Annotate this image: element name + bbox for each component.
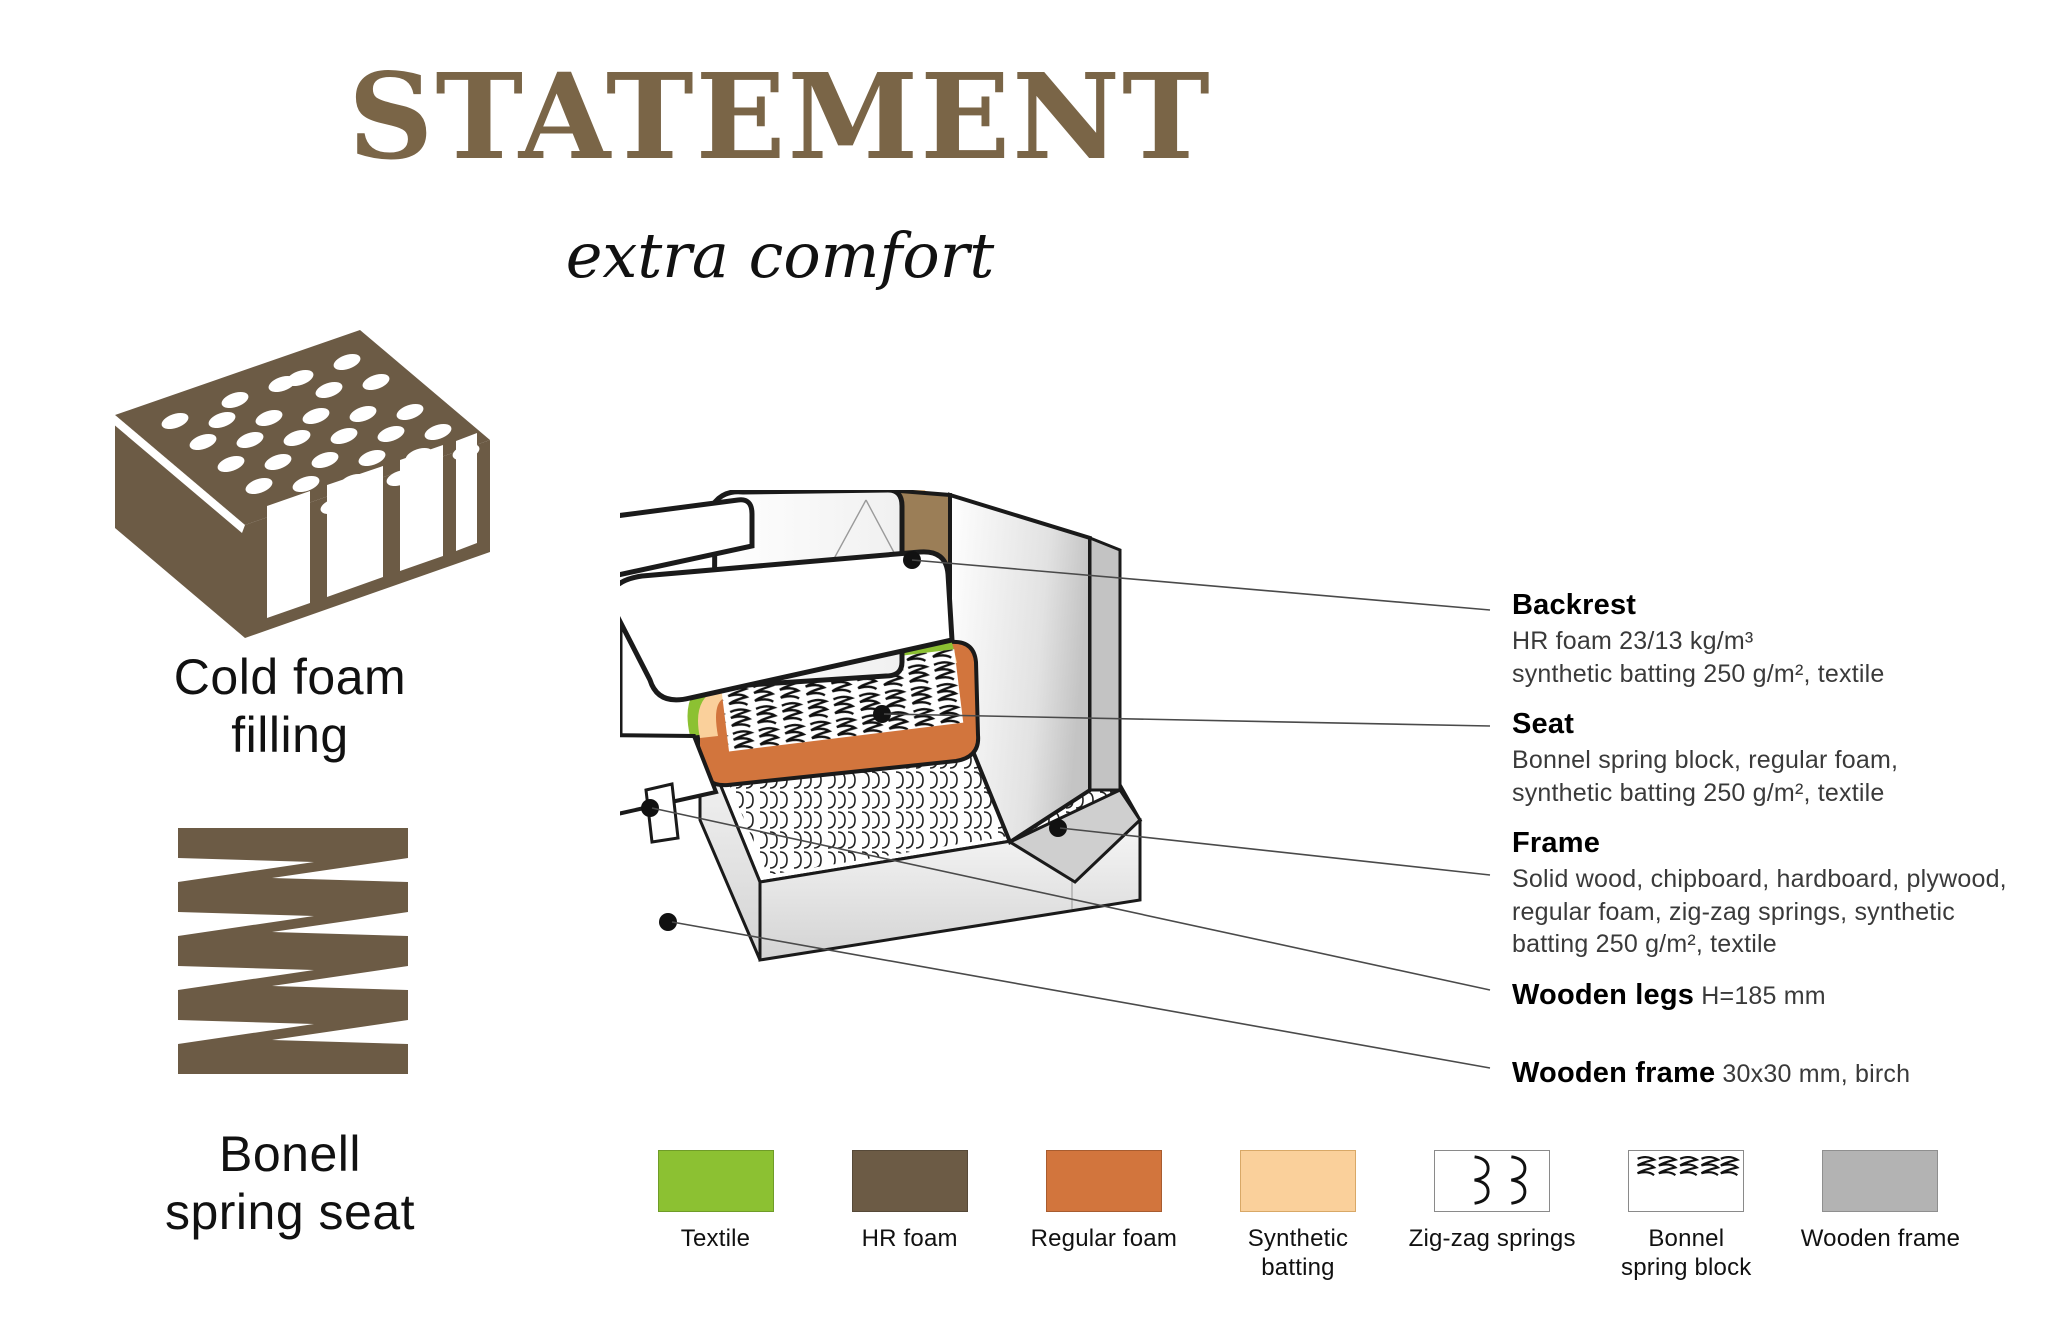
annotation-frame-line1: Solid wood, chipboard, hardboard, plywoo… — [1512, 863, 2032, 896]
annotation-backrest-line1: HR foam 23/13 kg/m³ — [1512, 625, 2032, 658]
legend-label-zigzag-springs: Zig-zag springs — [1409, 1224, 1576, 1253]
legend-label-wooden-frame: Wooden frame — [1801, 1224, 1960, 1253]
legend-label-regular-foam: Regular foam — [1031, 1224, 1177, 1253]
annotation-wooden-legs-value: H=185 mm — [1694, 982, 1826, 1010]
annotation-wooden-frame: Wooden frame 30x30 mm, birch — [1512, 1056, 2032, 1090]
annotation-seat: Seat Bonnel spring block, regular foam, … — [1512, 707, 2032, 809]
marker-dot-wooden-leg — [641, 799, 659, 817]
legend-label-textile: Textile — [681, 1224, 750, 1253]
annotation-wooden-frame-value: 30x30 mm, birch — [1715, 1060, 1910, 1088]
annotation-seat-title: Seat — [1512, 708, 1574, 740]
annotation-frame-title: Frame — [1512, 827, 1600, 859]
annotation-seat-body: Bonnel spring block, regular foam, synth… — [1512, 744, 2032, 809]
infographic-page: STATEMENT extra comfort — [0, 0, 2048, 1335]
legend-swatch-synthetic-batting — [1240, 1150, 1356, 1212]
page-title: STATEMENT — [0, 58, 1560, 176]
annotation-frame-body: Solid wood, chipboard, hardboard, plywoo… — [1512, 863, 2032, 961]
legend-item-hr-foam: HR foam — [822, 1150, 997, 1253]
zigzag-springs-icon — [1435, 1151, 1549, 1211]
legend-label-bonnel-line1: Bonnel — [1621, 1224, 1751, 1253]
legend-item-wooden-frame: Wooden frame — [1793, 1150, 1968, 1253]
annotation-frame-line3: batting 250 g/m², textile — [1512, 928, 2032, 961]
legend-swatch-zigzag-springs — [1434, 1150, 1550, 1212]
annotation-seat-line1: Bonnel spring block, regular foam, — [1512, 744, 2032, 777]
legend-label-bonnel-line2: spring block — [1621, 1253, 1751, 1282]
annotation-backrest-title: Backrest — [1512, 589, 1636, 621]
legend: Textile HR foam Regular foam Synthetic b… — [628, 1150, 1968, 1283]
bonell-caption-line1: Bonell — [40, 1125, 540, 1183]
legend-swatch-bonnel-spring-block — [1628, 1150, 1744, 1212]
legend-swatch-hr-foam — [852, 1150, 968, 1212]
legend-label-synthetic-batting: Synthetic batting — [1210, 1224, 1385, 1283]
legend-item-bonnel-spring-block: Bonnel spring block — [1599, 1150, 1774, 1283]
legend-swatch-regular-foam — [1046, 1150, 1162, 1212]
annotation-seat-line2: synthetic batting 250 g/m², textile — [1512, 777, 2032, 810]
annotation-backrest-body: HR foam 23/13 kg/m³ synthetic batting 25… — [1512, 625, 2032, 690]
legend-swatch-wooden-frame — [1822, 1150, 1938, 1212]
cold-foam-caption-line2: filling — [40, 706, 540, 764]
annotation-frame-line2: regular foam, zig-zag springs, synthetic — [1512, 896, 2032, 929]
marker-dot-backrest — [903, 551, 921, 569]
marker-dot-frame — [1049, 819, 1067, 837]
marker-dot-seat — [873, 705, 891, 723]
sofa-cutaway-illustration — [620, 490, 1450, 1190]
bonell-caption-line2: spring seat — [40, 1183, 540, 1241]
legend-item-synthetic-batting: Synthetic batting — [1210, 1150, 1385, 1283]
annotation-wooden-legs: Wooden legs H=185 mm — [1512, 978, 2032, 1012]
legend-item-zigzag-springs: Zig-zag springs — [1405, 1150, 1580, 1253]
annotation-backrest-line2: synthetic batting 250 g/m², textile — [1512, 658, 2032, 691]
bonnel-spring-block-icon — [1629, 1151, 1743, 1211]
marker-dot-wooden-frame — [659, 913, 677, 931]
bonell-spring-icon — [150, 820, 420, 1090]
legend-swatch-textile — [658, 1150, 774, 1212]
cold-foam-caption: Cold foam filling — [40, 648, 540, 764]
cold-foam-block-icon — [95, 320, 495, 640]
annotation-frame: Frame Solid wood, chipboard, hardboard, … — [1512, 826, 2032, 961]
page-subtitle: extra comfort — [0, 225, 1560, 287]
annotation-wooden-legs-title: Wooden legs — [1512, 979, 1694, 1011]
annotation-backrest: Backrest HR foam 23/13 kg/m³ synthetic b… — [1512, 588, 2032, 690]
annotation-wooden-frame-title: Wooden frame — [1512, 1057, 1715, 1089]
bonell-caption: Bonell spring seat — [40, 1125, 540, 1241]
legend-item-textile: Textile — [628, 1150, 803, 1253]
legend-label-bonnel-spring-block: Bonnel spring block — [1621, 1224, 1751, 1283]
cold-foam-caption-line1: Cold foam — [40, 648, 540, 706]
legend-item-regular-foam: Regular foam — [1016, 1150, 1191, 1253]
right-side-panel-edge — [1090, 538, 1120, 790]
legend-label-hr-foam: HR foam — [862, 1224, 958, 1253]
